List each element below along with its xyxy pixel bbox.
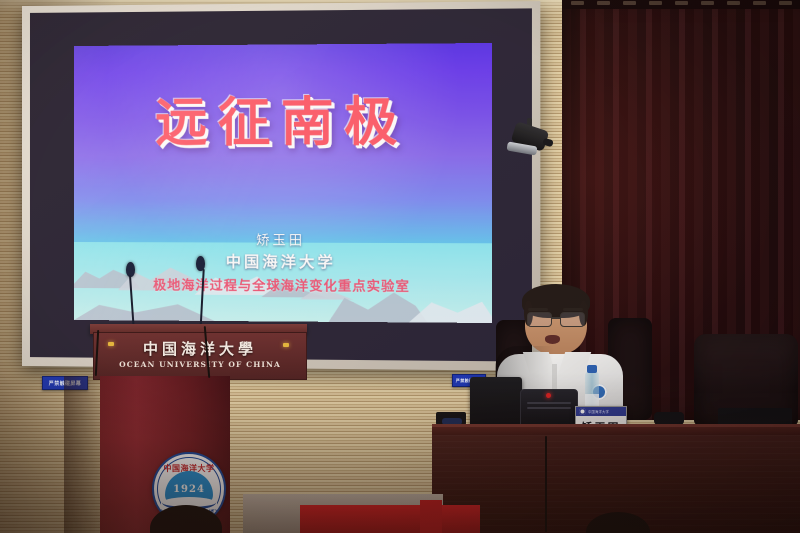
gooseneck-microphone-right <box>196 256 212 334</box>
podium-name-cn: 中国海洋大學 <box>94 338 306 359</box>
glasses-bridge <box>551 317 561 319</box>
floor-shadow <box>0 373 800 533</box>
gooseneck-microphone-left <box>126 262 142 332</box>
spotlight-icon <box>505 118 557 164</box>
podium-led-left <box>108 342 114 346</box>
speaker-brow-left <box>528 308 548 311</box>
podium-led-right <box>283 343 289 347</box>
glasses-icon <box>526 312 586 325</box>
glasses-lens-left <box>527 312 552 327</box>
slide-author: 矫玉田 <box>74 229 492 249</box>
curtain-rail <box>562 0 800 9</box>
glasses-lens-right <box>560 312 585 327</box>
bottle-cap <box>587 365 597 373</box>
speaker-brow-right <box>563 308 583 311</box>
lecture-hall-photo: 远征南极 矫玉田 中国海洋大学 极地海洋过程与全球海洋变化重点实验室 严禁触碰屏… <box>0 0 800 533</box>
slide-title: 远征南极 <box>74 96 492 150</box>
speaker-mouth <box>545 335 560 344</box>
podium-name-en: OCEAN UNIVERSITY OF CHINA <box>94 360 306 369</box>
